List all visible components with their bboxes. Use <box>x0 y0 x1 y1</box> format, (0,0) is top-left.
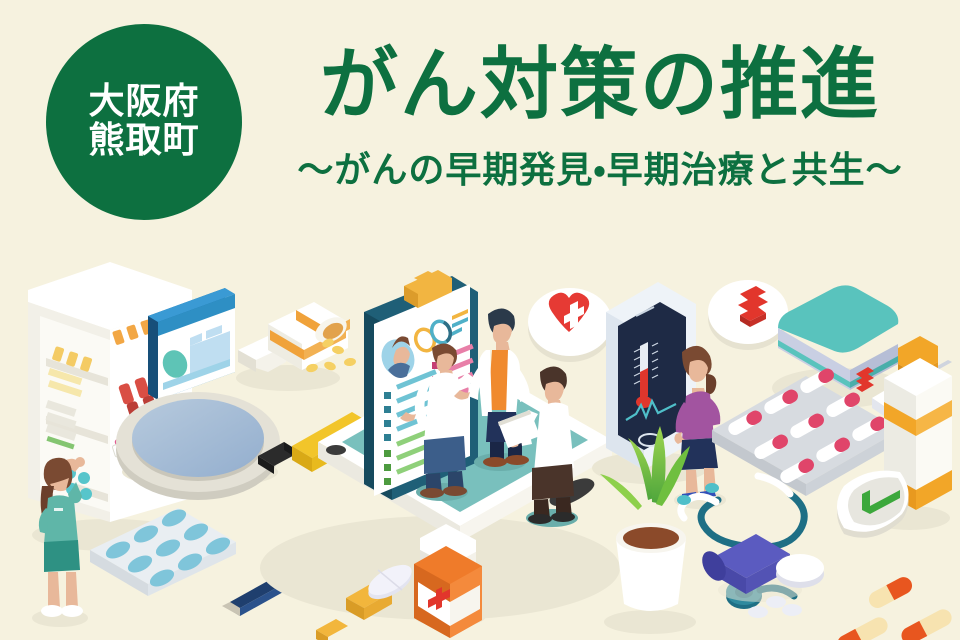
page-subtitle: 〜がんの早期発見・早期治療と共生〜 <box>255 141 945 193</box>
pill-bottle-open-icon <box>236 302 356 391</box>
municipality-badge-line1: 大阪府 <box>88 83 199 122</box>
medical-illustration <box>0 250 960 640</box>
municipality-badge: 大阪府 熊取町 <box>46 24 242 220</box>
banner-header: 大阪府 熊取町 がん対策の推進 〜がんの早期発見・早期治療と共生〜 <box>0 0 960 250</box>
capsules-orange-icon <box>834 574 954 640</box>
red-cross-badge-icon <box>708 280 788 350</box>
heart-cross-badge-icon <box>528 288 612 362</box>
municipality-badge-line2: 熊取町 <box>88 122 199 161</box>
orange-pill-bottle-cross-icon <box>414 524 486 638</box>
cancer-measures-banner: 大阪府 熊取町 がん対策の推進 〜がんの早期発見・早期治療と共生〜 <box>0 0 960 640</box>
title-block: がん対策の推進 〜がんの早期発見・早期治療と共生〜 <box>255 44 945 193</box>
page-title: がん対策の推進 <box>255 44 945 127</box>
